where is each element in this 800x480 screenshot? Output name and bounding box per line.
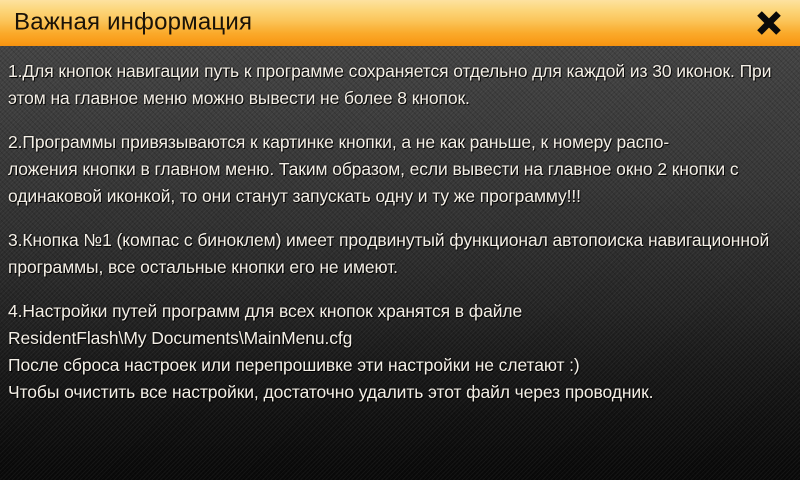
- paragraph-2: 2.Программы привязываются к картинке кно…: [8, 129, 792, 210]
- info-text-block: 1.Для кнопок навигации путь к программе …: [8, 58, 792, 406]
- close-button[interactable]: [752, 6, 786, 40]
- page-title: Важная информация: [14, 8, 252, 36]
- title-bar: Важная информация: [0, 0, 800, 46]
- content-panel: 1.Для кнопок навигации путь к программе …: [0, 46, 800, 480]
- close-icon: [754, 8, 784, 38]
- info-dialog: Важная информация 1.Для кнопок навигации…: [0, 0, 800, 480]
- paragraph-3: 3.Кнопка №1 (компас с биноклем) имеет пр…: [8, 227, 792, 281]
- paragraph-1: 1.Для кнопок навигации путь к программе …: [8, 58, 792, 112]
- paragraph-4: 4.Настройки путей программ для всех кноп…: [8, 298, 792, 406]
